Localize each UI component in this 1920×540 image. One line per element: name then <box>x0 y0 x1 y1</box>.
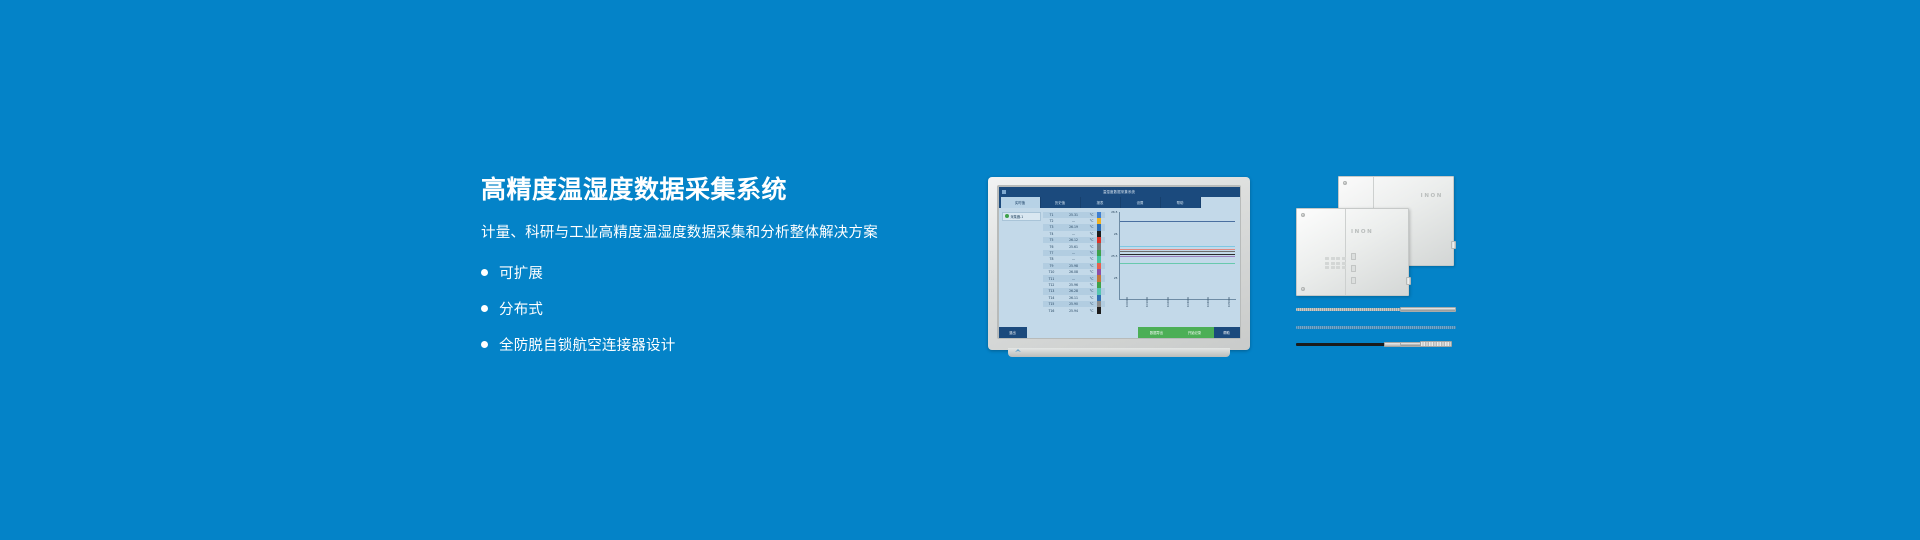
channel-table: T125.31°CT2---°CT326.19°CT4---°CT526.12°… <box>1043 208 1105 327</box>
x-axis-tick-label: 10:30:00 <box>1187 297 1190 307</box>
cell-unit: °C <box>1087 277 1097 281</box>
page-title: 高精度温湿度数据采集系统 <box>481 176 951 205</box>
key <box>1336 262 1340 265</box>
tabbar-filler <box>1201 197 1240 208</box>
x-axis-tick-label: 10:10:00 <box>1146 297 1149 307</box>
chart-series-line <box>1120 249 1235 250</box>
probe-tip <box>1400 342 1422 348</box>
key <box>1325 257 1329 260</box>
probe-cable <box>1296 308 1404 310</box>
key <box>1331 262 1335 265</box>
hero-text-block: 高精度温湿度数据采集系统 计量、科研与工业高精度温湿度数据采集和分析整体解决方案… <box>481 176 951 370</box>
exit-button[interactable]: 退出 <box>999 327 1027 338</box>
x-axis-tick-label: 10:00:00 <box>1126 297 1129 307</box>
cell-unit: °C <box>1087 238 1097 242</box>
cell-value: 26.19 <box>1061 225 1087 229</box>
cell-channel: T1 <box>1043 213 1061 217</box>
series-color-swatch <box>1097 307 1101 313</box>
tab-history[interactable]: 历史值 <box>1041 197 1081 208</box>
y-axis: 26.52625.525 <box>1107 212 1119 300</box>
cell-channel: T10 <box>1043 270 1061 274</box>
x-axis-tick-label: 10:50:00 <box>1228 297 1231 307</box>
cell-unit: °C <box>1087 296 1097 300</box>
cell-channel: T9 <box>1043 264 1061 268</box>
list-item: 可扩展 <box>481 262 951 283</box>
probe-cable <box>1296 343 1388 345</box>
cell-channel: T14 <box>1043 296 1061 300</box>
cell-unit: °C <box>1087 257 1097 261</box>
keypad-grid <box>1325 257 1346 269</box>
chart-series-line <box>1120 254 1235 255</box>
cell-channel: T5 <box>1043 238 1061 242</box>
io-port <box>1351 277 1356 284</box>
app-title: 温湿度数据采集系统 <box>999 189 1240 194</box>
key <box>1331 257 1335 260</box>
key <box>1325 266 1329 269</box>
y-axis-tick-label: 26.5 <box>1111 210 1117 214</box>
cell-unit: °C <box>1087 283 1097 287</box>
cell-value: 25.31 <box>1061 213 1087 217</box>
cell-channel: T13 <box>1043 289 1061 293</box>
cell-unit: °C <box>1087 245 1097 249</box>
connector-port <box>1451 241 1456 249</box>
footer-spacer <box>1027 327 1138 338</box>
monitor-inner-frame: 温湿度数据采集系统 实时值 历史值 报表 设置 帮助 <box>997 185 1241 339</box>
x-axis-tick-label: 10:20:00 <box>1167 297 1170 307</box>
key <box>1342 257 1346 260</box>
cell-value: 25.96 <box>1061 283 1087 287</box>
x-axis-labels: 10:00:0010:10:0010:20:0010:30:0010:40:00… <box>1118 297 1240 307</box>
cell-unit: °C <box>1087 225 1097 229</box>
app-body: 采集器-1 T125.31°CT2---°CT326.19°CT4---°CT5… <box>999 208 1240 327</box>
cell-unit: °C <box>1087 302 1097 306</box>
key <box>1331 266 1335 269</box>
tree-node-label: 采集器-1 <box>1011 214 1024 219</box>
cell-channel: T3 <box>1043 225 1061 229</box>
chart-series-line <box>1120 221 1235 222</box>
feature-label: 全防脱自锁航空连接器设计 <box>499 334 675 355</box>
y-axis-tick-label: 25.5 <box>1111 254 1117 258</box>
cell-value: 26.11 <box>1061 296 1087 300</box>
feature-list: 可扩展 分布式 全防脱自锁航空连接器设计 <box>481 262 951 355</box>
tab-report[interactable]: 报表 <box>1081 197 1121 208</box>
key <box>1325 262 1329 265</box>
bullet-icon <box>481 305 488 312</box>
connector-port <box>1406 277 1411 285</box>
cell-unit: °C <box>1087 213 1097 217</box>
chart-series-line <box>1120 263 1235 264</box>
cell-unit: °C <box>1087 270 1097 274</box>
list-item: 全防脱自锁航空连接器设计 <box>481 334 951 355</box>
page-subtitle: 计量、科研与工业高精度温湿度数据采集和分析整体解决方案 <box>481 221 951 242</box>
status-indicator-icon <box>1005 214 1009 218</box>
keypad-rows <box>1325 257 1346 269</box>
cell-unit: °C <box>1087 251 1097 255</box>
cell-channel: T8 <box>1043 257 1061 261</box>
cell-value: --- <box>1061 257 1087 261</box>
cell-value: --- <box>1061 232 1087 236</box>
app-titlebar: 温湿度数据采集系统 <box>999 187 1240 197</box>
y-axis-tick-label: 26 <box>1114 232 1118 236</box>
brand-logo-front: INON <box>1351 229 1373 235</box>
cell-unit: °C <box>1087 289 1097 293</box>
cell-channel: T2 <box>1043 219 1061 223</box>
port-column <box>1351 253 1356 289</box>
monitor-screen: 温湿度数据采集系统 实时值 历史值 报表 设置 帮助 <box>999 187 1240 338</box>
key <box>1336 266 1340 269</box>
monitor-bezel: 温湿度数据采集系统 实时值 历史值 报表 设置 帮助 <box>988 177 1250 350</box>
tab-help[interactable]: 帮助 <box>1161 197 1201 208</box>
cell-value: 26.08 <box>1061 270 1087 274</box>
cell-value: 26.12 <box>1061 238 1087 242</box>
cell-unit: °C <box>1087 232 1097 236</box>
help-button[interactable]: 帮助 <box>1214 327 1240 338</box>
tab-realtime[interactable]: 实时值 <box>1001 197 1041 208</box>
cell-value: --- <box>1061 251 1087 255</box>
trend-chart: 26.52625.525 10:00:0010:10:0010:20:0010:… <box>1105 208 1240 327</box>
probe-sensor-head <box>1420 341 1452 347</box>
list-item: 分布式 <box>481 298 951 319</box>
chart-series-line <box>1120 251 1235 252</box>
feature-label: 可扩展 <box>499 262 543 283</box>
chart-series-layer <box>1120 212 1235 300</box>
braided-probe <box>1296 306 1456 313</box>
cell-value: 25.98 <box>1061 264 1087 268</box>
io-port <box>1351 253 1356 260</box>
probe-tip <box>1400 307 1456 313</box>
probe-cable <box>1296 326 1456 328</box>
feature-label: 分布式 <box>499 298 543 319</box>
cell-value: --- <box>1061 219 1087 223</box>
panel-seam <box>1345 209 1346 295</box>
product-monitor: 温湿度数据采集系统 实时值 历史值 报表 设置 帮助 <box>988 177 1250 362</box>
chart-series-line <box>1120 256 1235 257</box>
cell-value: 26.28 <box>1061 289 1087 293</box>
cell-channel: T12 <box>1043 283 1061 287</box>
screw-icon <box>1301 287 1305 291</box>
brand-logo-back: INON <box>1421 193 1443 199</box>
export-data-button[interactable]: 数据导出 <box>1138 327 1176 338</box>
blue-cable-probe <box>1296 324 1456 331</box>
cell-unit: °C <box>1087 309 1097 313</box>
black-cable-probe <box>1296 341 1456 348</box>
start-record-button[interactable]: 开始记录 <box>1176 327 1214 338</box>
cell-channel: T6 <box>1043 245 1061 249</box>
bullet-icon <box>481 269 488 276</box>
product-hardware-group: INON INON <box>1296 176 1456 360</box>
key <box>1342 262 1346 265</box>
app-tabbar: 实时值 历史值 报表 设置 帮助 <box>999 197 1240 208</box>
cell-channel: T16 <box>1043 309 1061 313</box>
cell-value: 25.61 <box>1061 245 1087 249</box>
device-tree-panel: 采集器-1 <box>999 208 1043 327</box>
screw-icon <box>1301 213 1305 217</box>
chart-plot-area: 26.52625.525 <box>1107 212 1236 300</box>
screw-icon <box>1343 181 1347 185</box>
cell-unit: °C <box>1087 219 1097 223</box>
bullet-icon <box>481 341 488 348</box>
monitor-stand <box>1008 348 1230 357</box>
cell-channel: T15 <box>1043 302 1061 306</box>
tree-node-collector[interactable]: 采集器-1 <box>1002 212 1041 221</box>
cell-value: --- <box>1061 277 1087 281</box>
cell-channel: T4 <box>1043 232 1061 236</box>
hero-banner: 高精度温湿度数据采集系统 计量、科研与工业高精度温湿度数据采集和分析整体解决方案… <box>0 0 1920 540</box>
enclosure-front: INON <box>1296 208 1409 296</box>
y-axis-tick-label: 25 <box>1114 276 1118 280</box>
key <box>1336 257 1340 260</box>
chart-series-line <box>1120 246 1235 247</box>
cell-channel: T11 <box>1043 277 1061 281</box>
key <box>1342 266 1346 269</box>
x-axis-tick-label: 10:40:00 <box>1207 297 1210 307</box>
cell-value: 25.94 <box>1061 309 1087 313</box>
cell-value: 25.90 <box>1061 302 1087 306</box>
tab-settings[interactable]: 设置 <box>1121 197 1161 208</box>
io-port <box>1351 265 1356 272</box>
cell-channel: T7 <box>1043 251 1061 255</box>
app-footer: 退出 数据导出 开始记录 帮助 <box>999 327 1240 338</box>
cell-unit: °C <box>1087 264 1097 268</box>
table-row[interactable]: T1625.94°C <box>1043 307 1105 313</box>
